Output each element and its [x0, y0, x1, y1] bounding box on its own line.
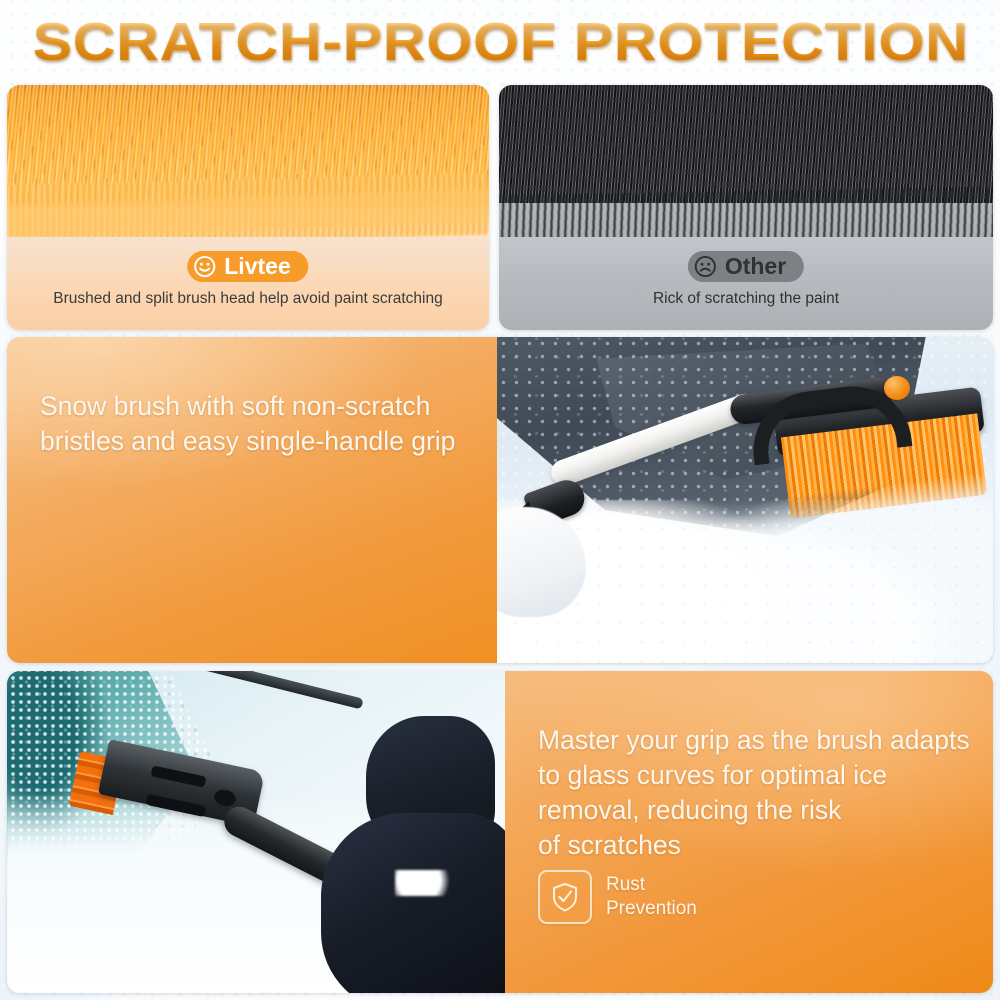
comparison-card-livtee: Livtee Brushed and split brush head help… — [7, 85, 489, 330]
feature-rust-prevention: Rust Prevention — [538, 870, 697, 924]
infographic-page: SCRATCH-PROOF PROTECTION Livtee — [0, 0, 1000, 1000]
feature-card-bottom: Master your grip as the brush adapts to … — [7, 671, 993, 993]
feature-line-2: Prevention — [606, 898, 697, 919]
livtee-caption-area: Livtee Brushed and split brush head help… — [7, 237, 489, 330]
other-badge: Other — [688, 251, 804, 282]
livtee-badge-label: Livtee — [224, 255, 290, 278]
bottom-headline-line-2: to glass curves for optimal ice — [538, 760, 887, 790]
orange-lock-knob — [884, 376, 910, 400]
black-bristles-photo — [499, 85, 993, 237]
middle-text-panel: Snow brush with soft non-scratch bristle… — [7, 337, 497, 663]
feature-line-1: Rust — [606, 874, 645, 895]
orange-bristles-photo — [7, 85, 489, 237]
livtee-caption: Brushed and split brush head help avoid … — [7, 289, 489, 309]
bottom-headline-line-1: Master your grip as the brush adapts — [538, 725, 970, 755]
feature-label-rust-prevention: Rust Prevention — [606, 873, 697, 921]
black-bristles-texture — [499, 85, 993, 203]
bottom-text-panel: Master your grip as the brush adapts to … — [505, 671, 993, 993]
snow-brush-photo — [497, 337, 993, 663]
snow-on-glove — [395, 870, 455, 896]
page-title: SCRATCH-PROOF PROTECTION — [32, 15, 968, 69]
header-banner: SCRATCH-PROOF PROTECTION — [0, 0, 1000, 84]
sad-face-icon — [694, 255, 717, 278]
bottom-headline-line-3: removal, reducing the risk — [538, 795, 841, 825]
ice-scraper-photo — [7, 671, 505, 993]
bottom-headline: Master your grip as the brush adapts to … — [538, 723, 986, 863]
livtee-badge: Livtee — [187, 251, 308, 282]
other-caption-area: Other Rick of scratching the paint — [499, 237, 993, 330]
windshield-wiper — [188, 671, 365, 710]
middle-headline: Snow brush with soft non-scratch bristle… — [40, 389, 470, 459]
shield-check-icon — [538, 870, 592, 924]
bottom-headline-line-4: of scratches — [538, 830, 681, 860]
smiley-face-icon — [193, 255, 216, 278]
other-badge-label: Other — [725, 255, 786, 278]
other-caption: Rick of scratching the paint — [499, 289, 993, 309]
comparison-card-other: Other Rick of scratching the paint — [499, 85, 993, 330]
black-bristles-tips — [499, 187, 993, 237]
dark-glove-hand — [321, 813, 505, 993]
feature-card-middle: Snow brush with soft non-scratch bristle… — [7, 337, 993, 663]
